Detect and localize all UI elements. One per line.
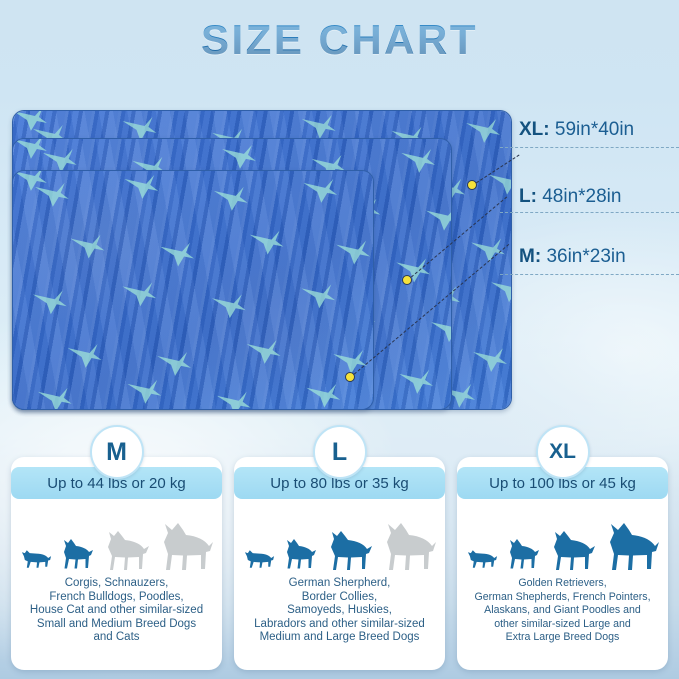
product-image (12, 110, 512, 410)
page-title-container: SIZE CHART (0, 16, 679, 64)
size-label-l: L: 48in*28in (519, 186, 621, 208)
size-label-xl: XL: 59in*40in (519, 119, 634, 141)
dog-silhouette-3-l (323, 529, 373, 573)
size-badge-m: M (90, 425, 144, 479)
dog-silhouette-2-xl (504, 537, 542, 573)
breed-line: German Sherpherd, (240, 577, 439, 591)
breed-line: Samoyeds, Huskies, (240, 604, 439, 618)
breed-line: Small and Medium Breed Dogs (17, 618, 216, 632)
breed-line: Labradors and other similar-sized (240, 618, 439, 632)
dog-silhouette-3-xl (546, 529, 596, 573)
size-label-m-prefix: M: (519, 246, 541, 267)
dog-silhouettes-xl (457, 507, 668, 573)
size-label-l-dims: 48in*28in (542, 186, 621, 207)
size-label-xl-prefix: XL: (519, 119, 550, 140)
page-title: SIZE CHART (201, 16, 478, 64)
dog-silhouette-2-m (58, 537, 96, 573)
dog-silhouette-4-l (377, 521, 437, 573)
size-label-m-dims: 36in*23in (546, 246, 625, 267)
dog-silhouette-4-m (154, 521, 214, 573)
breed-line: House Cat and other similar-sized (17, 604, 216, 618)
dog-silhouette-1-m (20, 545, 54, 573)
breed-line: Medium and Large Breed Dogs (240, 631, 439, 645)
breed-line: other similar-sized Large and (463, 618, 662, 632)
dog-silhouette-4-xl (600, 521, 660, 573)
dog-silhouette-1-xl (466, 545, 500, 573)
breed-line: Alaskans, and Giant Poodles and (463, 604, 662, 618)
breed-line: French Bulldogs, Poodles, (17, 591, 216, 605)
breed-line: German Shepherds, French Pointers, (463, 591, 662, 605)
size-label-m: M: 36in*23in (519, 246, 626, 268)
breed-line: and Cats (17, 631, 216, 645)
size-label-xl-dims: 59in*40in (555, 119, 634, 140)
size-label-l-prefix: L: (519, 186, 537, 207)
size-card-m[interactable]: M Up to 44 lbs or 20 kg Corgis, Schnauze… (11, 457, 222, 670)
breed-line: Border Collies, (240, 591, 439, 605)
dog-silhouettes-m (11, 507, 222, 573)
dog-silhouette-2-l (281, 537, 319, 573)
label-rule-l (500, 212, 679, 213)
breed-line: Golden Retrievers, (463, 577, 662, 591)
size-card-l[interactable]: L Up to 80 lbs or 35 kg German Sherpherd… (234, 457, 445, 670)
shark-print-m (13, 171, 373, 410)
dog-silhouette-3-m (100, 529, 150, 573)
callout-dot-l (402, 275, 412, 285)
breed-line: Extra Large Breed Dogs (463, 631, 662, 645)
breed-list-l: German Sherpherd, Border Collies, Samoye… (240, 577, 439, 645)
callout-dot-m (345, 372, 355, 382)
callout-dot-xl (467, 180, 477, 190)
breed-list-xl: Golden Retrievers, German Shepherds, Fre… (463, 577, 662, 645)
breed-line: Corgis, Schnauzers, (17, 577, 216, 591)
mat-layer-m (12, 170, 374, 410)
dog-silhouette-1-l (243, 545, 277, 573)
size-badge-xl: XL (536, 425, 590, 479)
label-rule-xl (500, 147, 679, 148)
dog-silhouettes-l (234, 507, 445, 573)
size-badge-l: L (313, 425, 367, 479)
size-card-xl[interactable]: XL Up to 100 lbs or 45 kg Golden Retriev… (457, 457, 668, 670)
label-rule-m (500, 274, 679, 275)
size-cards-row: M Up to 44 lbs or 20 kg Corgis, Schnauze… (0, 425, 679, 679)
breed-list-m: Corgis, Schnauzers, French Bulldogs, Poo… (17, 577, 216, 645)
